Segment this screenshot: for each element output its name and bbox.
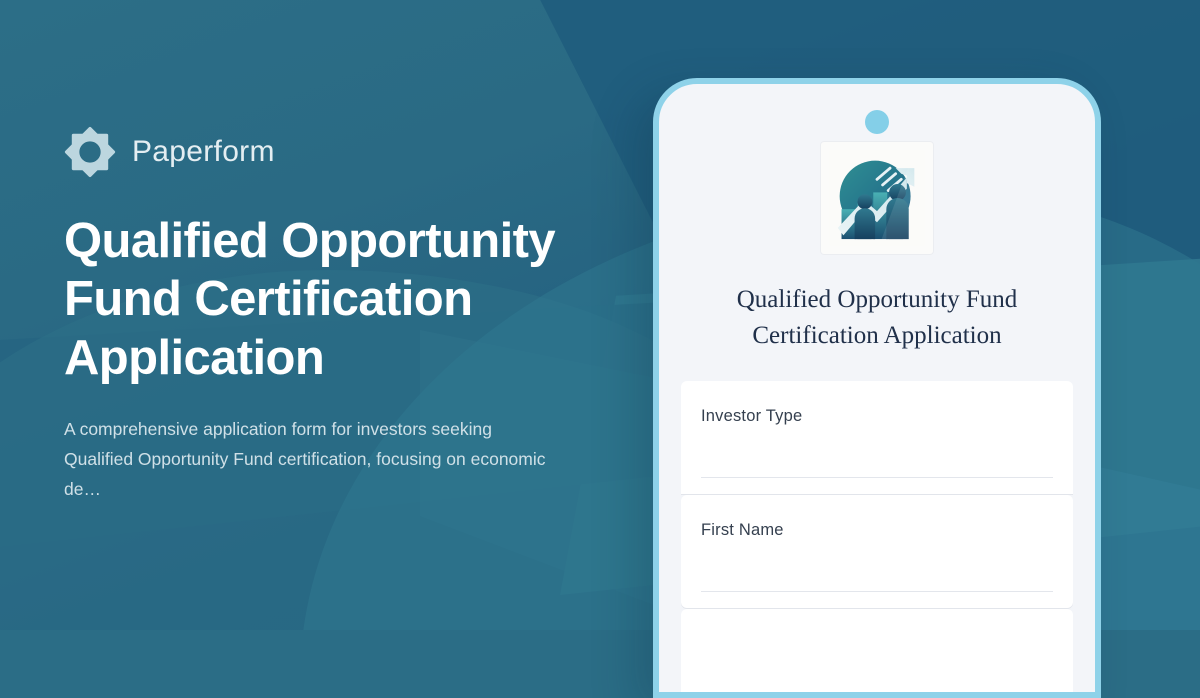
brand-name: Paperform	[132, 137, 275, 167]
field-input[interactable]	[701, 477, 1053, 478]
hero-content: Paperform Qualified Opportunity Fund Cer…	[64, 0, 664, 630]
page-title: Qualified Opportunity Fund Certification…	[64, 212, 604, 388]
camera-dot-icon	[865, 110, 889, 134]
page-description: A comprehensive application form for inv…	[64, 414, 564, 504]
form-field-investor-type[interactable]: Investor Type	[681, 381, 1073, 494]
form-field-first-name[interactable]: First Name	[681, 495, 1073, 608]
paperform-rosette-icon	[64, 126, 116, 178]
form-fields: Investor Type First Name	[659, 381, 1095, 698]
field-label: First Name	[701, 521, 1053, 541]
form-title: Qualified Opportunity Fund Certification…	[689, 282, 1065, 353]
field-input[interactable]	[701, 591, 1053, 592]
growth-chart-illustration	[821, 142, 933, 254]
brand-lockup: Paperform	[64, 126, 664, 178]
field-label: Investor Type	[701, 407, 1053, 427]
phone-mockup: Qualified Opportunity Fund Certification…	[653, 78, 1101, 698]
form-field-next[interactable]	[681, 609, 1073, 698]
